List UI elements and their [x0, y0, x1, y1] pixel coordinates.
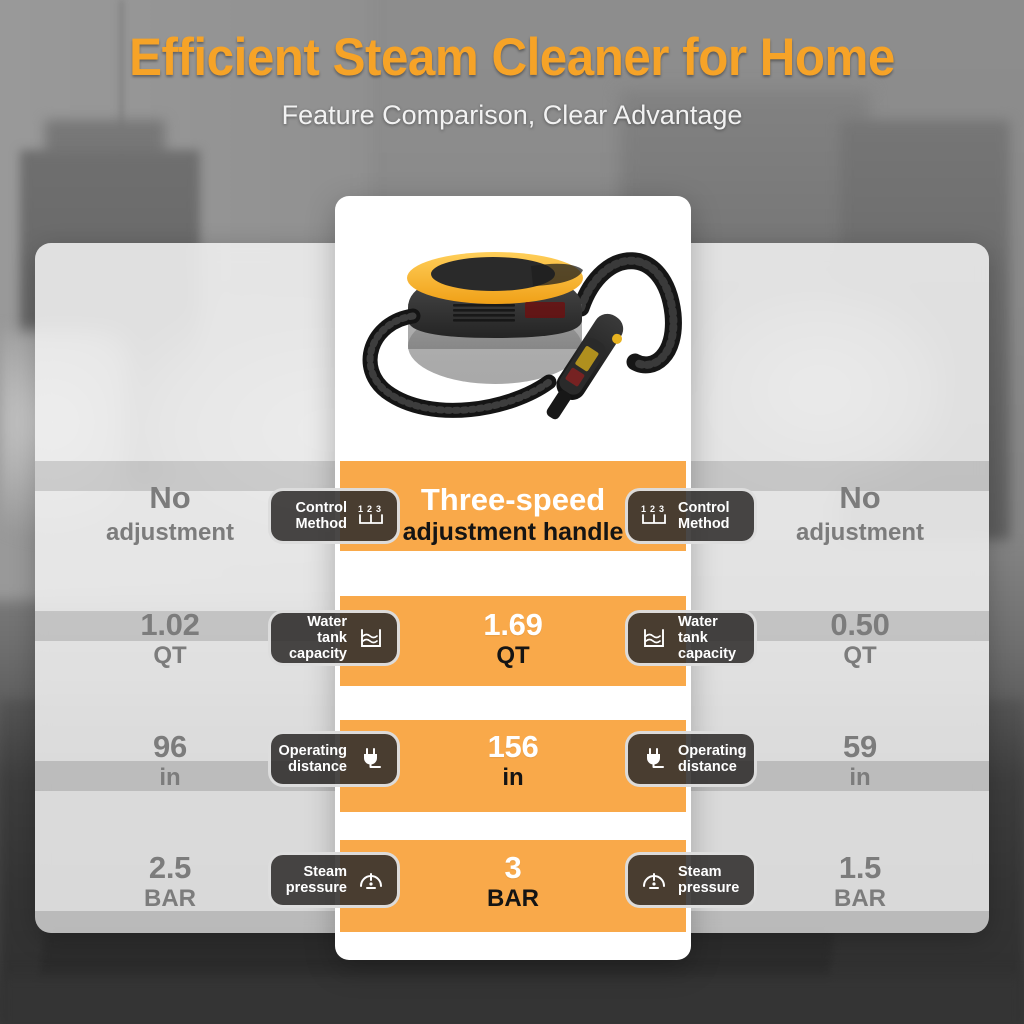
feature-label: Water tank capacity: [678, 614, 743, 662]
pressure-gauge-icon: [356, 867, 386, 893]
competitor-a-value-row-1-unit: adjustment: [106, 519, 234, 546]
competitor-a-value-row-3-unit: in: [45, 764, 295, 792]
feature-label: Operating distance: [678, 743, 746, 775]
competitor-a-value-row-2-main: 1.02: [45, 608, 295, 642]
power-plug-icon: [639, 746, 669, 772]
svg-text:3: 3: [376, 504, 381, 514]
competitor-b-value-row-1-unit: adjustment: [796, 519, 924, 546]
competitor-b-value-row-3-unit: in: [735, 764, 985, 792]
feature-badge-water-tank-right[interactable]: Water tank capacity: [625, 610, 757, 666]
feature-badge-steam-pressure-left[interactable]: Steam pressure: [268, 852, 400, 908]
feature-badge-operating-distance-left[interactable]: Operating distance: [268, 731, 400, 787]
feature-badge-steam-pressure-right[interactable]: Steam pressure: [625, 852, 757, 908]
svg-text:1: 1: [358, 504, 363, 514]
page-subtitle: Feature Comparison, Clear Advantage: [0, 100, 1024, 131]
svg-text:3: 3: [659, 504, 664, 514]
competitor-a-value-row-1: No adjustment: [45, 482, 295, 549]
competitor-a-value-row-3: 96 in: [45, 730, 295, 792]
competitor-a-value-row-4-unit: BAR: [45, 885, 295, 913]
feature-badge-water-tank-left[interactable]: Water tank capacity: [268, 610, 400, 666]
feature-label: Steam pressure: [282, 864, 347, 896]
feature-label: Water tank capacity: [282, 614, 347, 662]
competitor-b-value-row-3-main: 59: [735, 730, 985, 764]
page-title: Efficient Steam Cleaner for Home: [36, 30, 988, 86]
competitor-b-value-row-1-main: No: [839, 480, 880, 515]
svg-text:2: 2: [367, 504, 372, 514]
feature-label: Control Method: [282, 500, 347, 532]
feature-label: Control Method: [678, 500, 743, 532]
header: Efficient Steam Cleaner for Home Feature…: [0, 0, 1024, 131]
gear-shift-icon: 1 2 3: [356, 503, 386, 529]
svg-text:2: 2: [650, 504, 655, 514]
competitor-b-value-row-4-main: 1.5: [735, 851, 985, 885]
competitor-a-value-row-3-main: 96: [45, 730, 295, 764]
feature-badge-control-method-left[interactable]: Control Method 1 2 3: [268, 488, 400, 544]
infographic-root: Efficient Steam Cleaner for Home Feature…: [0, 0, 1024, 1024]
feature-label: Operating distance: [279, 743, 347, 775]
competitor-a-value-row-1-main: No: [149, 480, 190, 515]
competitor-a-value-row-2: 1.02 QT: [45, 608, 295, 670]
competitor-a-value-row-4-main: 2.5: [45, 851, 295, 885]
feature-badge-control-method-right[interactable]: 1 2 3 Control Method: [625, 488, 757, 544]
water-tank-icon: [639, 625, 669, 651]
gear-shift-icon: 1 2 3: [639, 503, 669, 529]
competitor-b-value-row-3: 59 in: [735, 730, 985, 792]
power-plug-icon: [356, 746, 386, 772]
competitor-a-value-row-4: 2.5 BAR: [45, 851, 295, 913]
pressure-gauge-icon: [639, 867, 669, 893]
competitor-b-value-row-4-unit: BAR: [735, 885, 985, 913]
feature-label: Steam pressure: [678, 864, 743, 896]
competitor-a-value-row-2-unit: QT: [45, 642, 295, 670]
competitor-b-value-row-4: 1.5 BAR: [735, 851, 985, 913]
comparison-rows: No adjustment Three-speed adjustment han…: [0, 0, 1024, 1024]
competitor-b-value-row-2-main: 0.50: [735, 608, 985, 642]
competitor-b-value-row-2: 0.50 QT: [735, 608, 985, 670]
competitor-b-value-row-1: No adjustment: [735, 482, 985, 549]
water-tank-icon: [356, 625, 386, 651]
feature-badge-operating-distance-right[interactable]: Operating distance: [625, 731, 757, 787]
svg-text:1: 1: [641, 504, 646, 514]
competitor-b-value-row-2-unit: QT: [735, 642, 985, 670]
